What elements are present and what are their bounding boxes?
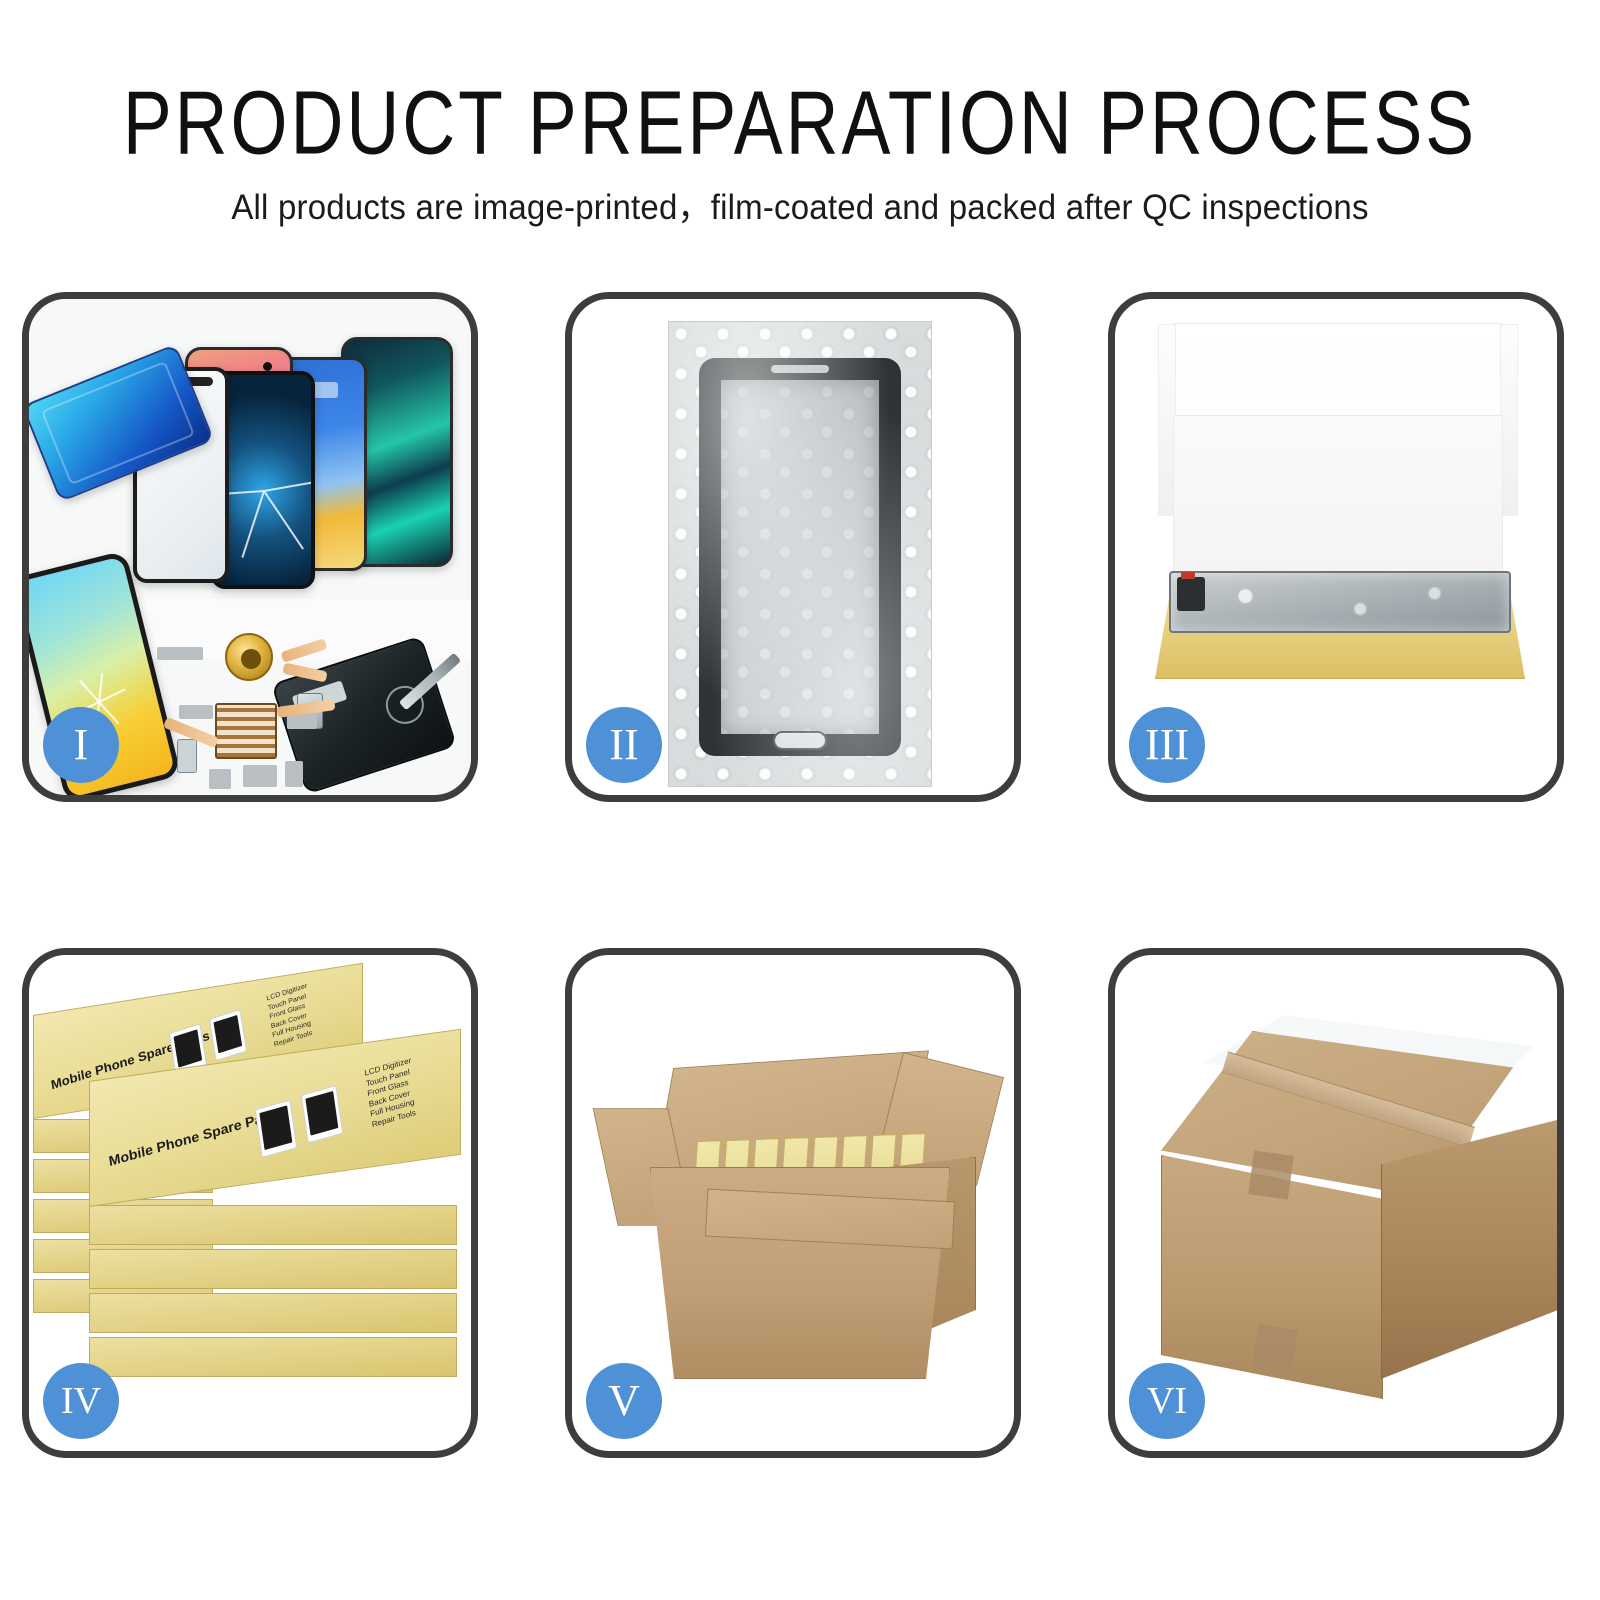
small-part-speaker: [157, 647, 203, 660]
step-badge-2: II: [586, 707, 662, 783]
retail-box-front-2: [89, 1249, 457, 1289]
bubble-wrap-sheet: [668, 321, 932, 787]
retail-box-checklist-back: LCD Digitizer Touch Panel Front Glass Ba…: [266, 982, 316, 1050]
page-title: PRODUCT PREPARATION PROCESS: [8, 78, 1592, 168]
process-step-panel-6[interactable]: VI: [1108, 948, 1564, 1458]
retail-box-front-4: [89, 1337, 457, 1377]
small-part-camera: [243, 765, 277, 787]
white-foam-insert: [1173, 415, 1503, 583]
wrapped-screen-assembly: [699, 358, 901, 756]
process-step-panel-1[interactable]: I: [22, 292, 478, 802]
sim-tray-part: [177, 739, 197, 773]
step-badge-4: IV: [43, 1363, 119, 1439]
earpiece-slot: [771, 365, 829, 373]
page-subtitle: All products are image-printed，film-coat…: [0, 178, 1600, 230]
wrapped-screen-in-box: [1169, 571, 1511, 633]
ic-chip-grid: [215, 703, 277, 759]
wireless-charging-coil: [225, 633, 273, 681]
retail-box-phone-image-front-a: [255, 1099, 298, 1158]
retail-box-front-3: [89, 1293, 457, 1333]
retail-box-checklist-front: LCD Digitizer Touch Panel Front Glass Ba…: [364, 1056, 419, 1130]
screen-flex-connector: [1177, 577, 1205, 611]
home-button: [773, 731, 827, 750]
process-step-panel-4[interactable]: Mobile Phone Spare Parts LCD Digitizer T…: [22, 948, 478, 1458]
step-badge-5: V: [586, 1363, 662, 1439]
step-badge-3: III: [1129, 707, 1205, 783]
retail-box-phone-image-back-b: [209, 1009, 247, 1061]
tape-tab-lower: [1252, 1324, 1298, 1373]
process-step-panel-5[interactable]: V: [565, 948, 1021, 1458]
page-header: PRODUCT PREPARATION PROCESS All products…: [0, 0, 1600, 228]
step-badge-6: VI: [1129, 1363, 1205, 1439]
small-part-vibrator: [209, 769, 231, 789]
tape-tab-upper: [1248, 1150, 1294, 1199]
small-part-module: [285, 761, 303, 787]
step-badge-1: I: [43, 707, 119, 783]
process-step-grid: I II III: [22, 292, 1578, 1458]
retail-box-front-1: [89, 1205, 457, 1245]
small-part-bracket: [179, 705, 213, 719]
process-step-panel-3[interactable]: III: [1108, 292, 1564, 802]
process-step-panel-2[interactable]: II: [565, 292, 1021, 802]
retail-box-phone-image-front-b: [301, 1085, 344, 1144]
